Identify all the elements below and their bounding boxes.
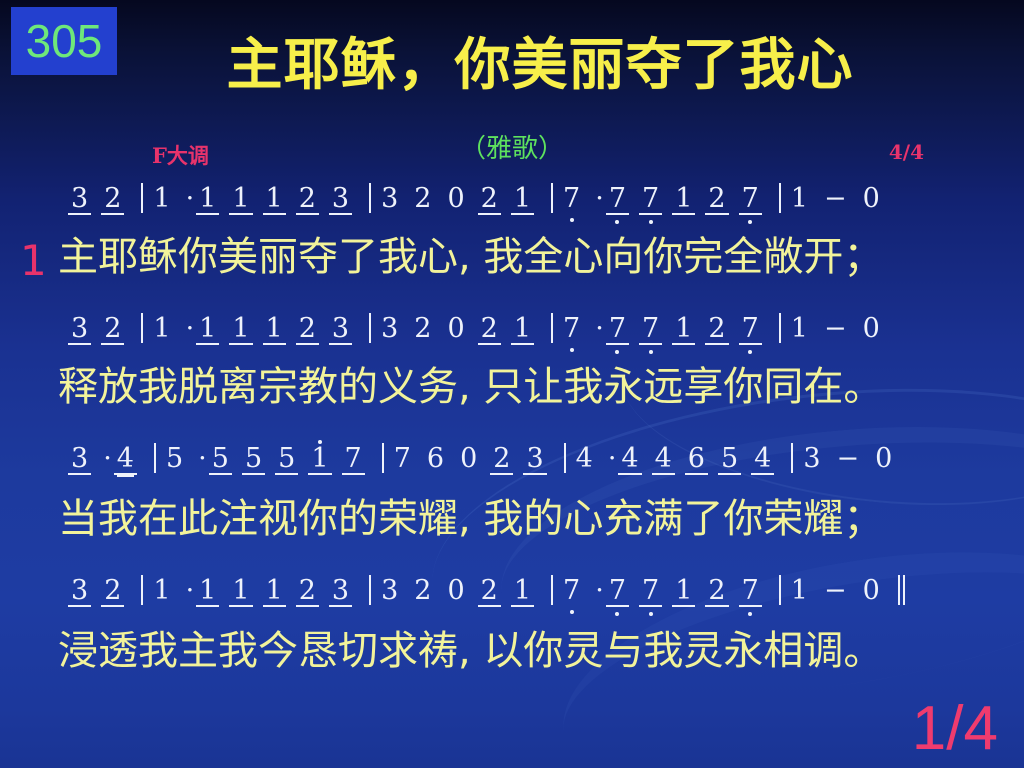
note: 1 <box>229 577 252 607</box>
note: 7 <box>560 315 583 342</box>
octave-down-dot <box>615 220 619 224</box>
note: 2 <box>705 577 728 607</box>
note: 0 <box>860 577 883 604</box>
note: 3 <box>523 445 546 475</box>
note: 3 <box>68 577 91 607</box>
note: 7 <box>560 577 583 604</box>
notation-line: 3·45·55517760234·446543−0 <box>0 443 1024 481</box>
barline <box>369 313 371 343</box>
octave-down-dot <box>615 350 619 354</box>
duration-dot: · <box>593 315 606 342</box>
note: 4 <box>618 445 641 475</box>
note: 2 <box>705 185 728 215</box>
note: 1 <box>788 185 811 212</box>
note: − <box>821 185 850 212</box>
staff-block: 3·45·55517760234·446543−0当我在此注视你的荣耀, 我的心… <box>0 443 1024 481</box>
note: 6 <box>685 445 708 475</box>
note: 1 <box>672 577 695 607</box>
note: 1 <box>511 577 534 607</box>
octave-down-dot <box>649 350 653 354</box>
note: 2 <box>411 315 434 342</box>
note: 0 <box>444 315 467 342</box>
note: 3 <box>378 315 401 342</box>
note: 2 <box>101 577 124 607</box>
note: 6 <box>424 445 447 472</box>
note: 7 <box>560 185 583 212</box>
double-barline <box>898 575 908 610</box>
note: 7 <box>639 577 662 607</box>
note: − <box>821 315 850 342</box>
duration-dot: · <box>196 445 209 472</box>
staff-block: 321·11123320217·771271−0浸透我主我今恳切求祷, 以你灵与… <box>0 575 1024 613</box>
note: 2 <box>101 315 124 345</box>
note: 7 <box>739 185 762 215</box>
note: 4 <box>114 445 137 475</box>
note: 7 <box>739 577 762 607</box>
staff-block: 321·11123320217·771271−0释放我脱离宗教的义务, 只让我永… <box>0 313 1024 351</box>
barline <box>564 443 566 473</box>
hymn-number: 305 <box>26 18 103 64</box>
note: 0 <box>872 445 895 472</box>
note: 3 <box>68 445 91 475</box>
note: 0 <box>444 577 467 604</box>
note: 2 <box>705 315 728 345</box>
octave-down-dot <box>748 612 752 616</box>
note: 2 <box>101 185 124 215</box>
note: 1 <box>263 315 286 345</box>
notation-line: 321·11123320217·771271−0 <box>0 575 1024 613</box>
note: 2 <box>411 577 434 604</box>
barline <box>551 313 553 343</box>
note: 1 <box>150 185 173 212</box>
barline <box>141 313 143 343</box>
barline <box>551 183 553 213</box>
note: 7 <box>606 185 629 215</box>
note: 3 <box>800 445 823 472</box>
hymn-number-badge: 305 <box>11 7 117 75</box>
notation-line: 321·11123320217·771271−0 <box>0 183 1024 221</box>
note: 0 <box>860 185 883 212</box>
octave-down-dot <box>570 348 574 352</box>
note: 5 <box>163 445 186 472</box>
page-title: 主耶稣，你美丽夺了我心 <box>160 20 920 101</box>
scripture-source: （雅歌） <box>0 128 1024 165</box>
duration-dot: · <box>606 445 619 472</box>
note: 1 <box>263 185 286 215</box>
note: 0 <box>457 445 480 472</box>
octave-down-dot <box>570 610 574 614</box>
note: 1 <box>788 577 811 604</box>
staff-block: 321·11123320217·771271−0主耶稣你美丽夺了我心, 我全心向… <box>0 183 1024 221</box>
barline <box>141 575 143 605</box>
note: − <box>821 577 850 604</box>
note: 1 <box>672 315 695 345</box>
octave-down-dot <box>649 612 653 616</box>
note: 7 <box>606 577 629 607</box>
note: 1 <box>511 315 534 345</box>
note: 2 <box>478 577 501 607</box>
note: 7 <box>391 445 414 472</box>
note: 3 <box>329 185 352 215</box>
note: 5 <box>242 445 265 475</box>
note: 3 <box>68 185 91 215</box>
duration-dot: · <box>184 577 197 604</box>
note: 1 <box>150 315 173 342</box>
note: 4 <box>573 445 596 472</box>
note: 3 <box>378 577 401 604</box>
note: 1 <box>511 185 534 215</box>
note: 3 <box>68 315 91 345</box>
note: 7 <box>342 445 365 475</box>
note: 5 <box>275 445 298 475</box>
duration-dot: · <box>184 315 197 342</box>
note: 1 <box>150 577 173 604</box>
note: 2 <box>296 577 319 607</box>
note: − <box>834 445 863 472</box>
octave-up-dot <box>318 440 322 444</box>
octave-down-dot <box>649 220 653 224</box>
note: 1 <box>229 185 252 215</box>
barline <box>551 575 553 605</box>
note: 4 <box>751 445 774 475</box>
octave-down-dot <box>615 612 619 616</box>
time-signature: 4/4 <box>889 140 924 164</box>
barline <box>779 183 781 213</box>
barline <box>779 313 781 343</box>
note: 7 <box>606 315 629 345</box>
octave-down-dot <box>748 350 752 354</box>
note: 2 <box>296 315 319 345</box>
note: 7 <box>639 315 662 345</box>
lyrics-line: 浸透我主我今恳切求祷, 以你灵与我灵永相调。 <box>0 628 1024 674</box>
lyrics-line: 主耶稣你美丽夺了我心, 我全心向你完全敞开； <box>0 234 1024 280</box>
barline <box>791 443 793 473</box>
note: 1 <box>672 185 695 215</box>
octave-down-dot <box>748 220 752 224</box>
duration-dot: · <box>101 445 114 472</box>
note: 4 <box>652 445 675 475</box>
note: 2 <box>490 445 513 475</box>
barline <box>141 183 143 213</box>
note: 1 <box>308 445 331 475</box>
barline <box>154 443 156 473</box>
note: 3 <box>378 185 401 212</box>
note: 0 <box>444 185 467 212</box>
note: 1 <box>229 315 252 345</box>
note: 1 <box>263 577 286 607</box>
note: 1 <box>196 315 219 345</box>
note: 7 <box>739 315 762 345</box>
note: 2 <box>296 185 319 215</box>
barline <box>779 575 781 605</box>
lyrics-line: 当我在此注视你的荣耀, 我的心充满了你荣耀； <box>0 496 1024 542</box>
duration-dot: · <box>593 577 606 604</box>
note: 0 <box>860 315 883 342</box>
duration-dot: · <box>184 185 197 212</box>
barline <box>369 575 371 605</box>
note: 3 <box>329 315 352 345</box>
note: 1 <box>788 315 811 342</box>
notation-line: 321·11123320217·771271−0 <box>0 313 1024 351</box>
note: 5 <box>718 445 741 475</box>
note: 2 <box>411 185 434 212</box>
note: 2 <box>478 185 501 215</box>
barline <box>369 183 371 213</box>
octave-down-dot <box>570 218 574 222</box>
note: 2 <box>478 315 501 345</box>
hymn-slide: 305 主耶稣，你美丽夺了我心 F大调 （雅歌） 4/4 1 321·11123… <box>0 0 1024 768</box>
note: 1 <box>196 577 219 607</box>
lyrics-line: 释放我脱离宗教的义务, 只让我永远享你同在。 <box>0 364 1024 410</box>
page-indicator: 1/4 <box>912 693 998 764</box>
duration-dot: · <box>593 185 606 212</box>
note: 1 <box>196 185 219 215</box>
note: 5 <box>209 445 232 475</box>
barline <box>382 443 384 473</box>
note: 3 <box>329 577 352 607</box>
note: 7 <box>639 185 662 215</box>
